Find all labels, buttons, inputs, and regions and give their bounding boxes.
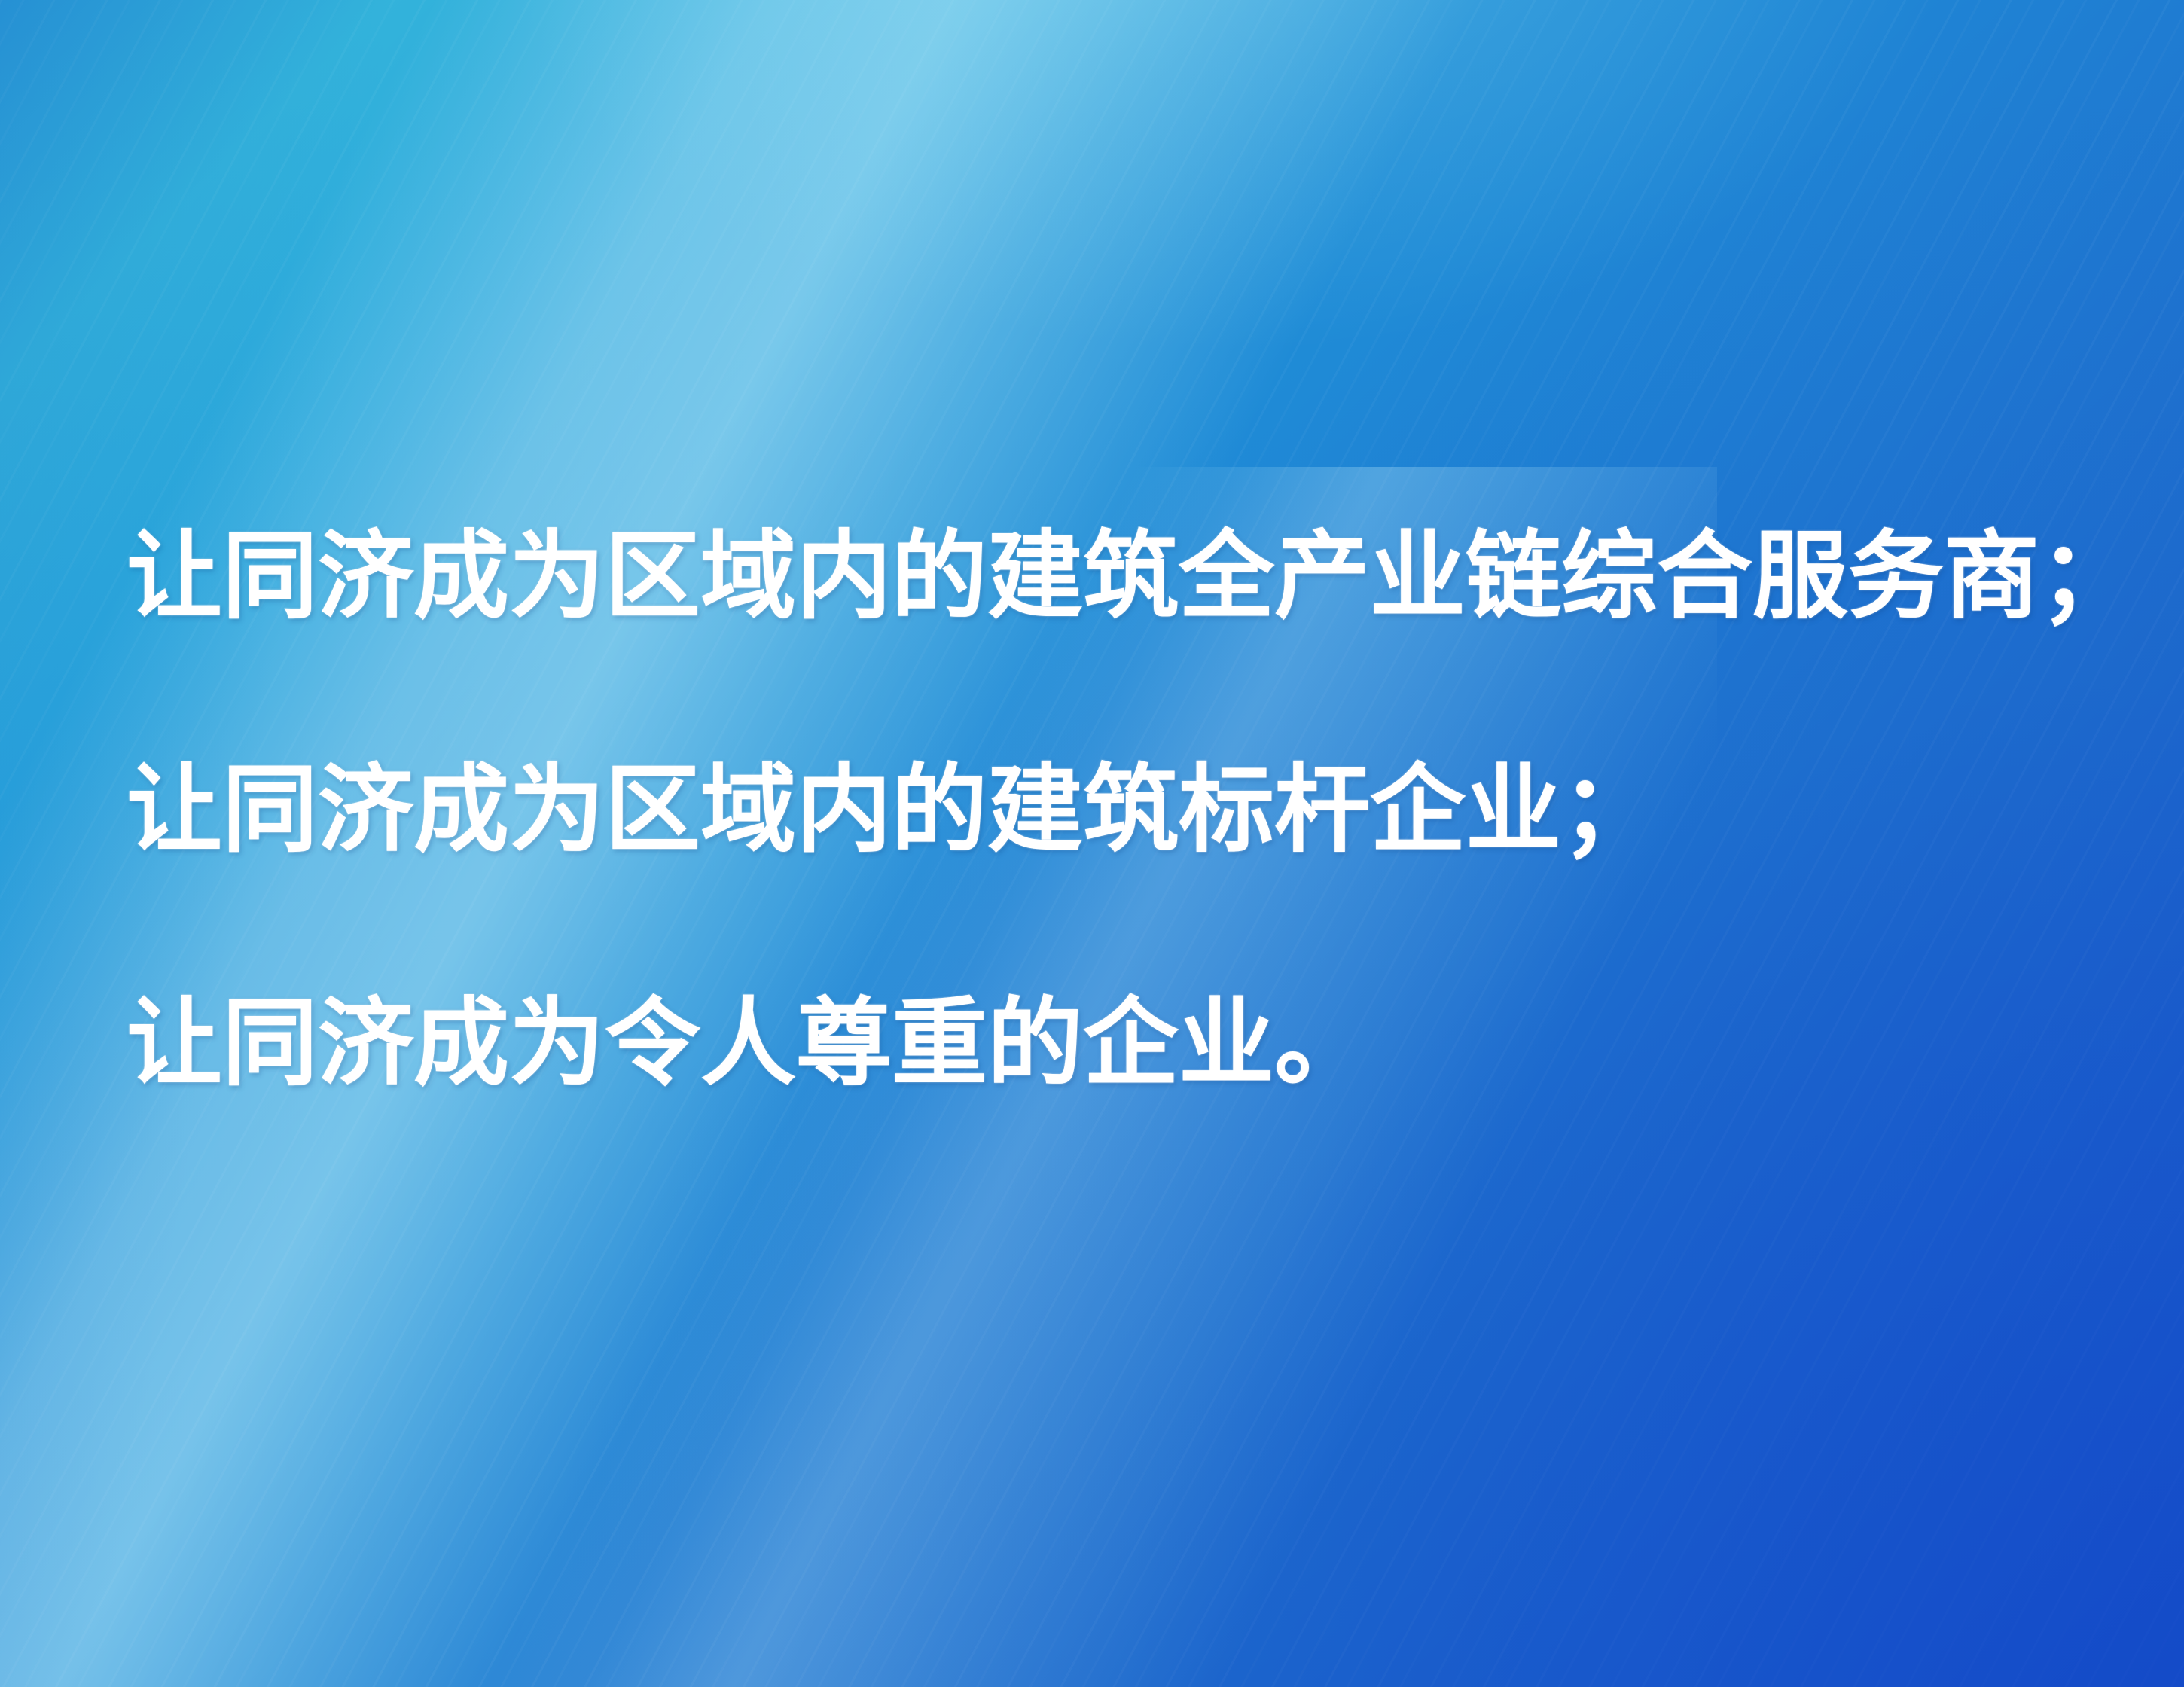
slide-text-block: 让同济成为区域内的建筑全产业链综合服务商； 让同济成为区域内的建筑标杆企业； 让… <box>127 461 2085 1161</box>
slide-text-line-2: 让同济成为区域内的建筑标杆企业； <box>127 694 2085 928</box>
slide-canvas: 让同济成为区域内的建筑全产业链综合服务商； 让同济成为区域内的建筑标杆企业； 让… <box>0 0 2184 1687</box>
slide-text-line-3: 让同济成为令人尊重的企业。 <box>127 928 2085 1161</box>
slide-text-line-1: 让同济成为区域内的建筑全产业链综合服务商； <box>127 461 2085 694</box>
